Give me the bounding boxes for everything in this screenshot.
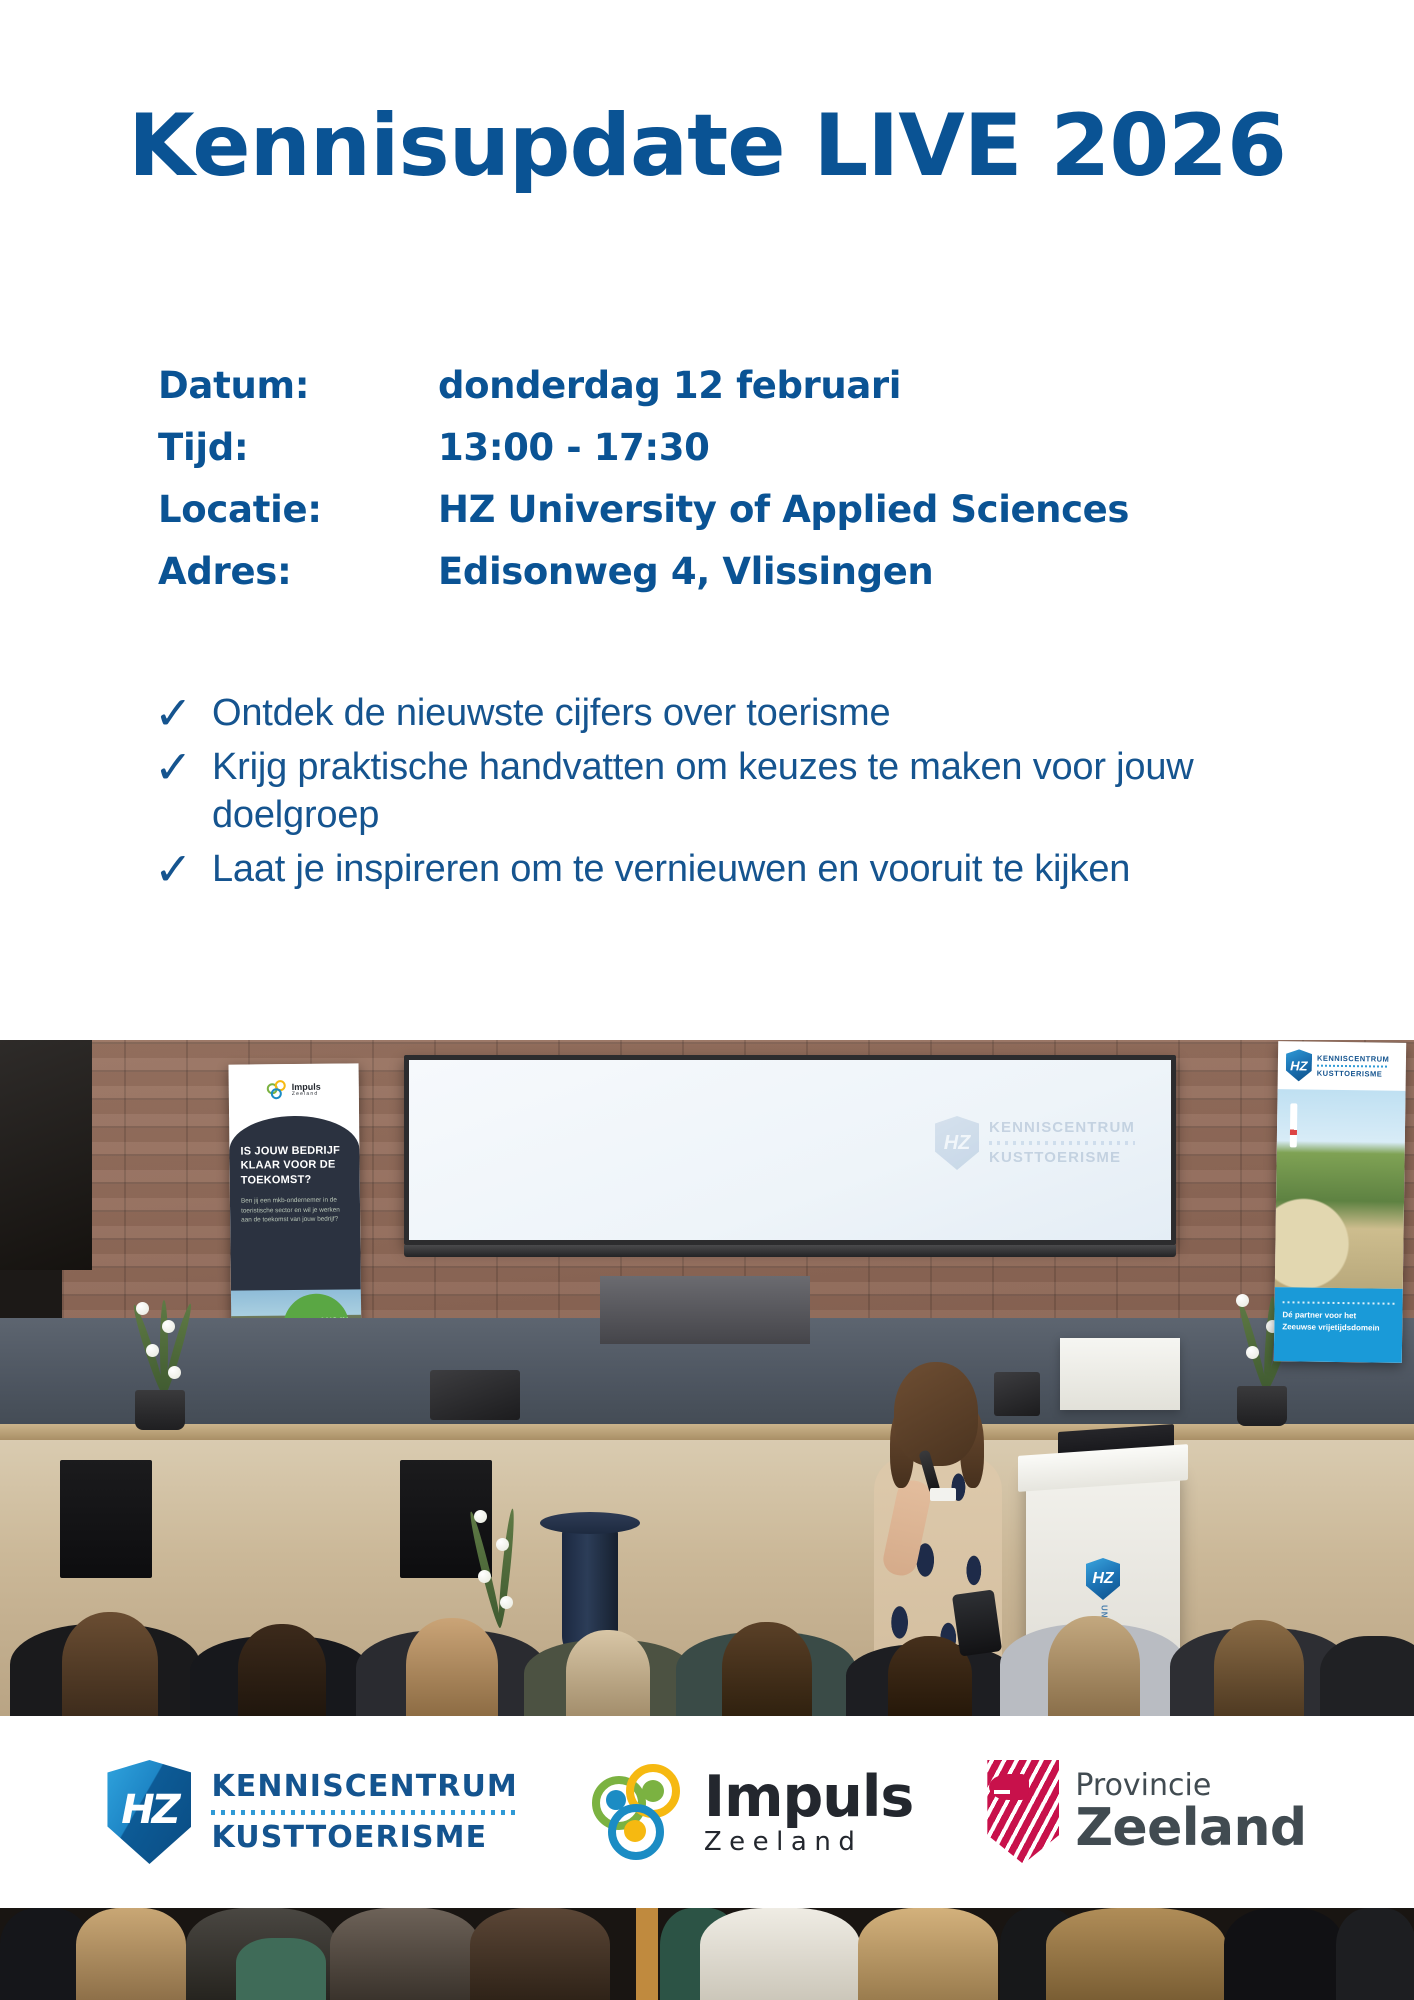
screen-logo-text: KENNISCENTRUM KUSTTOERISME xyxy=(989,1117,1135,1169)
list-item: ✓ Laat je inspireren om te vernieuwen en… xyxy=(150,846,1240,894)
audience-member xyxy=(1224,1908,1344,2000)
detail-value-datum: donderdag 12 februari xyxy=(438,364,901,407)
detail-row-datum: Datum: donderdag 12 februari xyxy=(158,364,1129,426)
rollup-content: IS JOUW BEDRIJF KLAAR VOOR DE TOEKOMST? … xyxy=(229,1115,361,1346)
hz-shield-icon: HZ xyxy=(935,1116,979,1170)
provincie-logo-text: Provincie Zeeland xyxy=(1075,1769,1306,1855)
audience-member xyxy=(330,1908,480,2000)
hz-shield-icon: HZ xyxy=(1286,1049,1312,1081)
checkmark-icon: ✓ xyxy=(150,846,212,893)
checkmark-icon: ✓ xyxy=(150,744,212,791)
audience-member xyxy=(1336,1908,1414,2000)
projection-screen: HZ KENNISCENTRUM KUSTTOERISME xyxy=(404,1055,1176,1245)
screen-logo-line1: KENNISCENTRUM xyxy=(989,1117,1135,1139)
list-item-label: Laat je inspireren om te vernieuwen en v… xyxy=(212,846,1130,894)
lion-head-shape xyxy=(989,1774,1029,1800)
detail-row-tijd: Tijd: 13:00 - 17:30 xyxy=(158,426,1129,488)
bottom-photo-strip xyxy=(0,1908,1414,2000)
stage-vent-panel xyxy=(60,1460,152,1578)
audience-member xyxy=(470,1908,610,2000)
detail-label-datum: Datum: xyxy=(158,364,438,407)
dotted-divider xyxy=(211,1810,517,1815)
provincie-logo-line2: Zeeland xyxy=(1075,1802,1306,1855)
partner-logo-bar: HZ KENNISCENTRUM KUSTTOERISME Impuls Zee… xyxy=(0,1716,1414,1908)
audience-member xyxy=(406,1618,498,1716)
audience-member xyxy=(1214,1620,1304,1716)
impuls-logo-line2: Zeeland xyxy=(704,1829,913,1855)
stage-edge-trim xyxy=(0,1424,1414,1440)
logo-provincie-zeeland: Provincie Zeeland xyxy=(987,1760,1306,1864)
audience-member xyxy=(1048,1616,1140,1716)
right-banner-strip-line2: Zeeuwse vrijetijdsdomein xyxy=(1282,1321,1394,1335)
hz-logo-line2: KUSTTOERISME xyxy=(211,1821,517,1855)
audience-member xyxy=(566,1630,650,1716)
impuls-mark-icon xyxy=(267,1080,287,1100)
rollup-brand-line2: Zeeland xyxy=(292,1092,321,1097)
audience-member xyxy=(62,1612,158,1716)
hz-shield-icon: HZ xyxy=(107,1760,191,1864)
screen-hz-logo: HZ KENNISCENTRUM KUSTTOERISME xyxy=(935,1116,1135,1170)
detail-row-adres: Adres: Edisonweg 4, Vlissingen xyxy=(158,550,1129,612)
event-photo: HZ KENNISCENTRUM KUSTTOERISME Impuls Zee… xyxy=(0,1040,1414,1716)
screen-logo-line2: KUSTTOERISME xyxy=(989,1147,1135,1169)
rollup-banner-left: Impuls Zeeland IS JOUW BEDRIJF KLAAR VOO… xyxy=(229,1063,362,1346)
wall-fixture xyxy=(0,1040,92,1270)
right-banner-line2: KUSTTOERISME xyxy=(1317,1068,1389,1080)
dotted-divider xyxy=(1283,1301,1395,1305)
audience-member xyxy=(700,1908,860,2000)
list-item: ✓ Krijg praktische handvatten om keuzes … xyxy=(150,744,1240,840)
detail-value-adres: Edisonweg 4, Vlissingen xyxy=(438,550,933,593)
hz-logo-text: KENNISCENTRUM KUSTTOERISME xyxy=(211,1770,517,1854)
logo-hz-kenniscentrum: HZ KENNISCENTRUM KUSTTOERISME xyxy=(107,1760,517,1864)
right-banner-photo xyxy=(1275,1089,1406,1289)
list-item-label: Ontdek de nieuwste cijfers over toerisme xyxy=(212,690,890,738)
right-banner-strip: Dé partner voor het Zeeuwse vrijetijdsdo… xyxy=(1274,1287,1403,1363)
detail-row-locatie: Locatie: HZ University of Applied Scienc… xyxy=(158,488,1129,550)
detail-label-locatie: Locatie: xyxy=(158,488,438,531)
dotted-divider xyxy=(989,1141,1135,1145)
list-item: ✓ Ontdek de nieuwste cijfers over toeris… xyxy=(150,690,1240,738)
right-banner-logo-text: KENNISCENTRUM KUSTTOERISME xyxy=(1317,1052,1390,1080)
audience-member xyxy=(858,1908,998,2000)
event-details: Datum: donderdag 12 februari Tijd: 13:00… xyxy=(158,364,1129,612)
hz-shield-text: HZ xyxy=(121,1787,177,1833)
wooden-post xyxy=(636,1908,658,2000)
rollup-banner-right: HZ KENNISCENTRUM KUSTTOERISME Dé partner… xyxy=(1274,1041,1406,1363)
detail-label-tijd: Tijd: xyxy=(158,426,438,469)
list-item-label: Krijg praktische handvatten om keuzes te… xyxy=(212,744,1240,840)
audience-member xyxy=(238,1624,326,1716)
speaker-name-badge xyxy=(930,1488,956,1501)
lighthouse-shape xyxy=(1290,1103,1298,1147)
page-title: Kennisupdate LIVE 2026 xyxy=(0,96,1414,196)
audience-member xyxy=(722,1622,812,1716)
logo-impuls-zeeland: Impuls Zeeland xyxy=(592,1764,913,1860)
screen-frame-bar xyxy=(404,1245,1176,1257)
rollup-heading: IS JOUW BEDRIJF KLAAR VOOR DE TOEKOMST? xyxy=(240,1143,348,1187)
benefits-checklist: ✓ Ontdek de nieuwste cijfers over toeris… xyxy=(150,690,1240,900)
phone-camera-icon xyxy=(952,1589,1002,1656)
stage-monitor-speaker xyxy=(430,1370,520,1420)
hz-shield-icon: HZ xyxy=(1086,1558,1120,1600)
detail-value-locatie: HZ University of Applied Sciences xyxy=(438,488,1129,531)
speaker-hair xyxy=(894,1362,978,1466)
rollup-body-text: Ben jij een mkb-ondernemer in de toerist… xyxy=(241,1195,349,1225)
detail-value-tijd: 13:00 - 17:30 xyxy=(438,426,709,469)
audience-member xyxy=(1046,1908,1226,2000)
audience-member xyxy=(1320,1636,1414,1716)
impuls-logo-line1: Impuls xyxy=(704,1769,913,1826)
impuls-mark-icon xyxy=(592,1764,688,1860)
zeeland-lion-icon xyxy=(987,1760,1059,1864)
hz-logo-line1: KENNISCENTRUM xyxy=(211,1770,517,1804)
decorative-plant-left xyxy=(112,1280,208,1430)
detail-label-adres: Adres: xyxy=(158,550,438,593)
audience-member xyxy=(236,1938,326,2000)
white-side-table xyxy=(1060,1338,1180,1410)
rollup-brand: Impuls Zeeland xyxy=(229,1063,360,1116)
impuls-logo-text: Impuls Zeeland xyxy=(704,1769,913,1855)
checkmark-icon: ✓ xyxy=(150,690,212,737)
right-banner-line1: KENNISCENTRUM xyxy=(1317,1052,1389,1064)
audience-member xyxy=(76,1908,186,2000)
right-banner-logo: HZ KENNISCENTRUM KUSTTOERISME xyxy=(1278,1041,1407,1091)
rollup-brand-text: Impuls Zeeland xyxy=(292,1083,321,1097)
stage-table xyxy=(600,1276,810,1344)
